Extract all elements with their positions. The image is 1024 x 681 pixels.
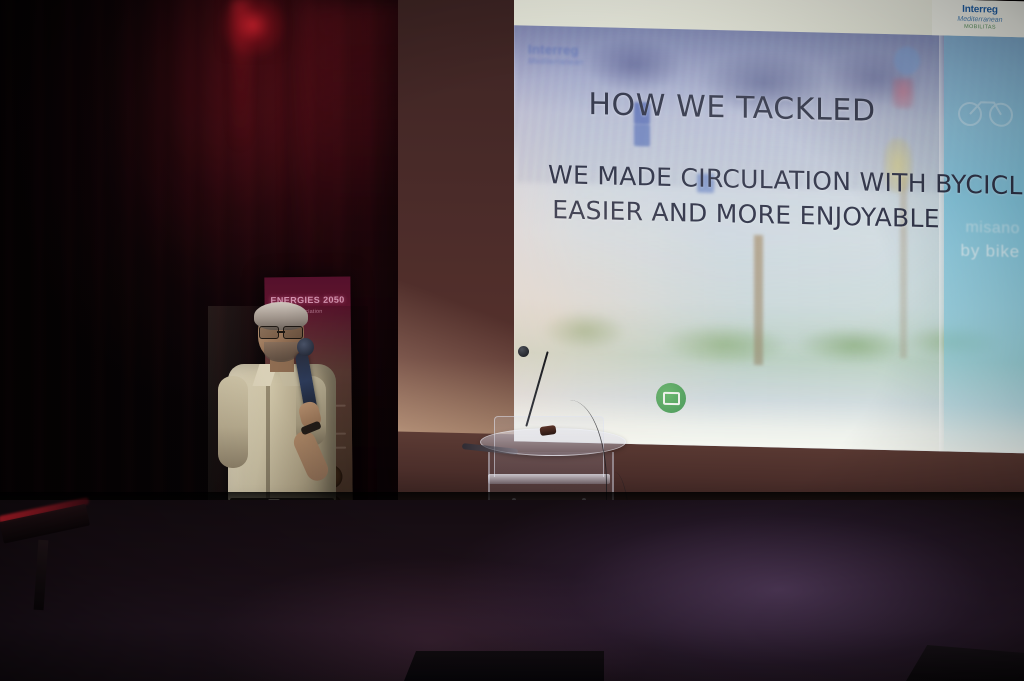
stage-photo-scene: Interreg Mediterranean misano by bike HO… <box>0 0 1024 681</box>
cycle-sign-icon <box>634 124 650 146</box>
stage-equipment-right <box>906 645 1024 681</box>
microphone-head-icon <box>297 338 314 356</box>
photo-lamp-post <box>754 235 763 365</box>
bike-balloon-icon <box>894 46 920 75</box>
interreg-watermark: Interreg Mediterranean <box>528 42 584 67</box>
photo-foliage <box>524 260 1004 376</box>
interreg-logo-primary: Interreg <box>962 5 998 16</box>
slide-subline: WE MADE CIRCULATION WITH BYCICLE EASIER … <box>524 158 1024 239</box>
speaker-beard <box>264 342 298 362</box>
stage-equipment-bottom <box>404 651 604 681</box>
green-circle-logo <box>656 383 686 414</box>
mobilitas-logo-label: MOBILITAS <box>964 25 996 31</box>
stage-floor <box>0 500 1024 681</box>
interreg-logo-secondary: Mediterranean <box>957 16 1002 24</box>
interreg-mediterranean-logo: Interreg Mediterranean MOBILITAS <box>932 0 1024 37</box>
eyeglasses-icon <box>258 326 304 337</box>
bicycle-icon <box>956 93 1016 128</box>
speaker-arm-left <box>218 376 248 468</box>
interreg-watermark-secondary: Mediterranean <box>528 57 584 67</box>
by-bike-panel: misano by bike <box>944 32 1024 453</box>
shirt-placket <box>266 368 270 500</box>
red-stage-light <box>218 0 288 60</box>
presentation-slide: Interreg Mediterranean misano by bike HO… <box>514 0 1024 453</box>
interreg-watermark-primary: Interreg <box>528 42 579 58</box>
gooseneck-mic-head-icon <box>518 346 529 357</box>
by-bike-tagline: by bike <box>942 240 1020 262</box>
green-logo-glyph <box>663 391 680 404</box>
